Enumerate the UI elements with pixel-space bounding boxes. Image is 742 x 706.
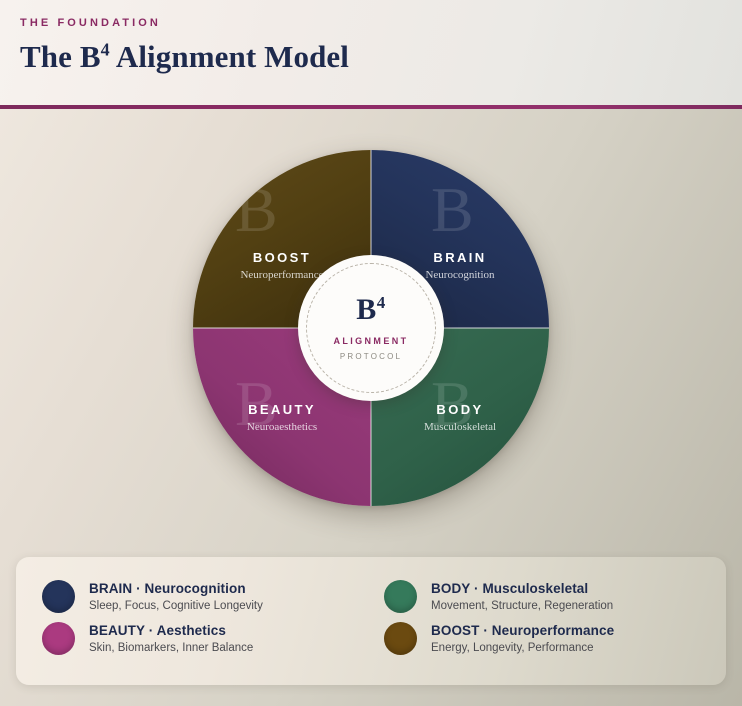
legend-subtitle-brain: Sleep, Focus, Cognitive Longevity (89, 598, 263, 614)
page-root: THE FOUNDATION The B4 Alignment Model B … (0, 0, 742, 706)
legend-dot-boost-icon (384, 622, 417, 655)
legend-column-left: BRAIN · Neurocognition Sleep, Focus, Cog… (42, 579, 358, 663)
quadrant-title-beauty: BEAUTY (193, 402, 371, 418)
legend-text-brain: BRAIN · Neurocognition Sleep, Focus, Cog… (89, 580, 263, 614)
hub-alignment-label: ALIGNMENT (333, 335, 408, 347)
page-title-superscript: 4 (101, 40, 110, 60)
legend-dot-brain-icon (42, 580, 75, 613)
legend-title-body: BODY · Musculoskeletal (431, 580, 613, 597)
legend-title-beauty: BEAUTY · Aesthetics (89, 622, 253, 639)
wheel-center-hub: B4 ALIGNMENT PROTOCOL (298, 255, 444, 401)
eyebrow-label: THE FOUNDATION (20, 16, 742, 30)
legend-item-boost[interactable]: BOOST · Neuroperformance Energy, Longevi… (384, 621, 700, 656)
hub-protocol-label: PROTOCOL (340, 351, 402, 362)
b4-wheel: B B B B BOOST Neuroperformance BRAIN Neu… (193, 150, 549, 506)
legend-subtitle-beauty: Skin, Biomarkers, Inner Balance (89, 640, 253, 656)
quadrant-label-body: BODY Musculoskeletal (371, 402, 549, 435)
legend-text-body: BODY · Musculoskeletal Movement, Structu… (431, 580, 613, 614)
page-title: The B4 Alignment Model (20, 37, 742, 77)
watermark-b-boost: B (235, 178, 278, 242)
hub-content: B4 ALIGNMENT PROTOCOL (298, 255, 444, 401)
legend-item-brain[interactable]: BRAIN · Neurocognition Sleep, Focus, Cog… (42, 579, 358, 614)
page-title-suffix: Alignment Model (110, 39, 349, 74)
legend-column-right: BODY · Musculoskeletal Movement, Structu… (358, 579, 700, 663)
legend-card: BRAIN · Neurocognition Sleep, Focus, Cog… (16, 557, 726, 685)
watermark-b-brain: B (431, 178, 474, 242)
legend-text-beauty: BEAUTY · Aesthetics Skin, Biomarkers, In… (89, 622, 253, 656)
legend-dot-beauty-icon (42, 622, 75, 655)
legend-title-brain: BRAIN · Neurocognition (89, 580, 263, 597)
quadrant-label-beauty: BEAUTY Neuroaesthetics (193, 402, 371, 435)
quadrant-subtitle-body: Musculoskeletal (371, 420, 549, 435)
legend-subtitle-body: Movement, Structure, Regeneration (431, 598, 613, 614)
quadrant-subtitle-beauty: Neuroaesthetics (193, 420, 371, 435)
page-title-prefix: The B (20, 39, 101, 74)
legend-text-boost: BOOST · Neuroperformance Energy, Longevi… (431, 622, 614, 656)
legend-subtitle-boost: Energy, Longevity, Performance (431, 640, 614, 656)
hub-b4-mark: B4 (356, 294, 386, 326)
legend-item-beauty[interactable]: BEAUTY · Aesthetics Skin, Biomarkers, In… (42, 621, 358, 656)
hub-b4-superscript: 4 (377, 293, 386, 312)
legend-dot-body-icon (384, 580, 417, 613)
page-header: THE FOUNDATION The B4 Alignment Model (0, 0, 742, 105)
legend-item-body[interactable]: BODY · Musculoskeletal Movement, Structu… (384, 579, 700, 614)
hub-b4-letter: B (356, 293, 377, 326)
legend-title-boost: BOOST · Neuroperformance (431, 622, 614, 639)
diagram-stage: B B B B BOOST Neuroperformance BRAIN Neu… (0, 109, 742, 706)
quadrant-title-body: BODY (371, 402, 549, 418)
